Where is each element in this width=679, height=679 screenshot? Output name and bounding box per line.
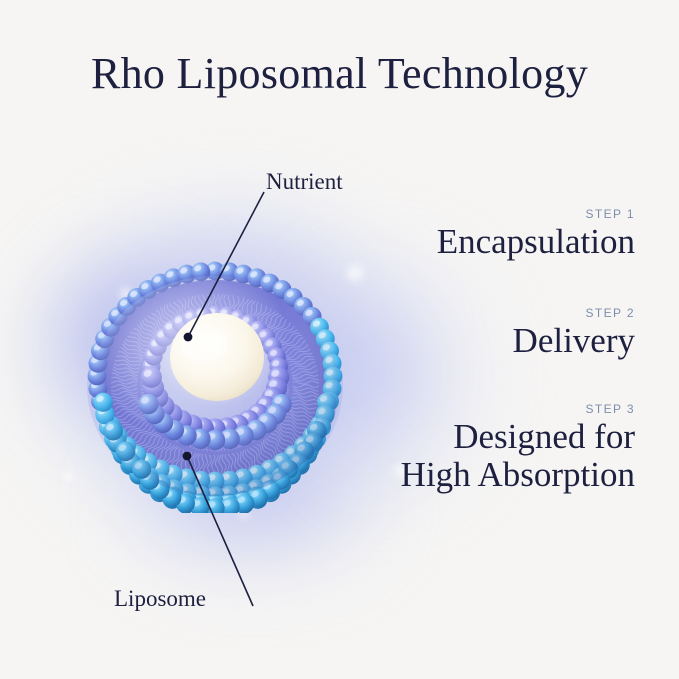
step-item-3: STEP 3 Designed for High Absorption [315,403,635,493]
page-title: Rho Liposomal Technology [0,48,679,99]
step-1-kicker: STEP 1 [315,208,635,221]
steps-list: STEP 1 Encapsulation STEP 2 Delivery STE… [315,208,635,493]
callout-label-nutrient: Nutrient [266,169,343,195]
liposomal-technology-infographic: Rho Liposomal Technology [0,0,679,679]
callout-label-liposome: Liposome [114,586,206,612]
step-2-kicker: STEP 2 [315,307,635,320]
step-1-title: Encapsulation [315,223,635,260]
step-3-title: Designed for High Absorption [315,418,635,493]
step-2-title: Delivery [315,322,635,359]
nutrient-core [161,308,273,408]
sparkle-icon [62,470,75,483]
step-item-1: STEP 1 Encapsulation [315,208,635,261]
step-3-kicker: STEP 3 [315,403,635,416]
step-item-2: STEP 2 Delivery [315,307,635,360]
